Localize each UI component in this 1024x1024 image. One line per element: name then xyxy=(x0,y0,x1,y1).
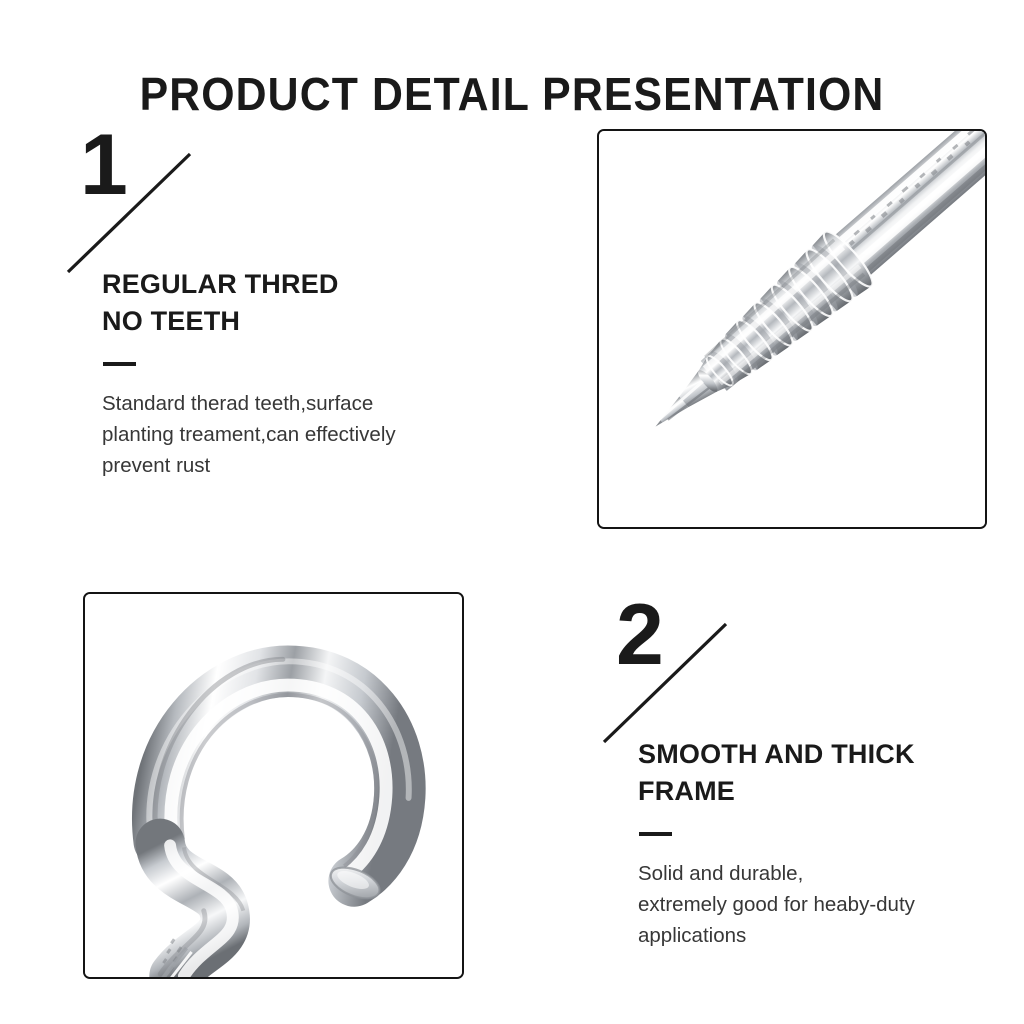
hook-frame-photo xyxy=(85,594,462,977)
screw-thread-photo-frame xyxy=(597,129,987,529)
feature-1-divider xyxy=(103,362,136,366)
feature-2-number: 2 xyxy=(616,592,664,678)
feature-2-heading: SMOOTH AND THICK FRAME xyxy=(598,736,1018,810)
feature-2-body: Solid and durable, extremely good for he… xyxy=(598,858,1018,951)
feature-block-1: 1 REGULAR THRED NO TEETH Standard therad… xyxy=(62,134,482,481)
feature-1-body: Standard therad teeth,surface planting t… xyxy=(62,388,482,481)
feature-1-heading: REGULAR THRED NO TEETH xyxy=(62,266,482,340)
feature-1-number-row: 1 xyxy=(62,134,482,266)
feature-1-number: 1 xyxy=(80,122,128,208)
feature-2-number-row: 2 xyxy=(598,604,1018,736)
feature-block-2: 2 SMOOTH AND THICK FRAME Solid and durab… xyxy=(598,604,1018,951)
page-title: PRODUCT DETAIL PRESENTATION xyxy=(36,67,988,121)
product-detail-page: PRODUCT DETAIL PRESENTATION 1 REGULAR TH… xyxy=(0,0,1024,1024)
screw-thread-photo xyxy=(599,131,985,527)
hook-frame-photo-frame xyxy=(83,592,464,979)
feature-2-divider xyxy=(639,832,672,836)
